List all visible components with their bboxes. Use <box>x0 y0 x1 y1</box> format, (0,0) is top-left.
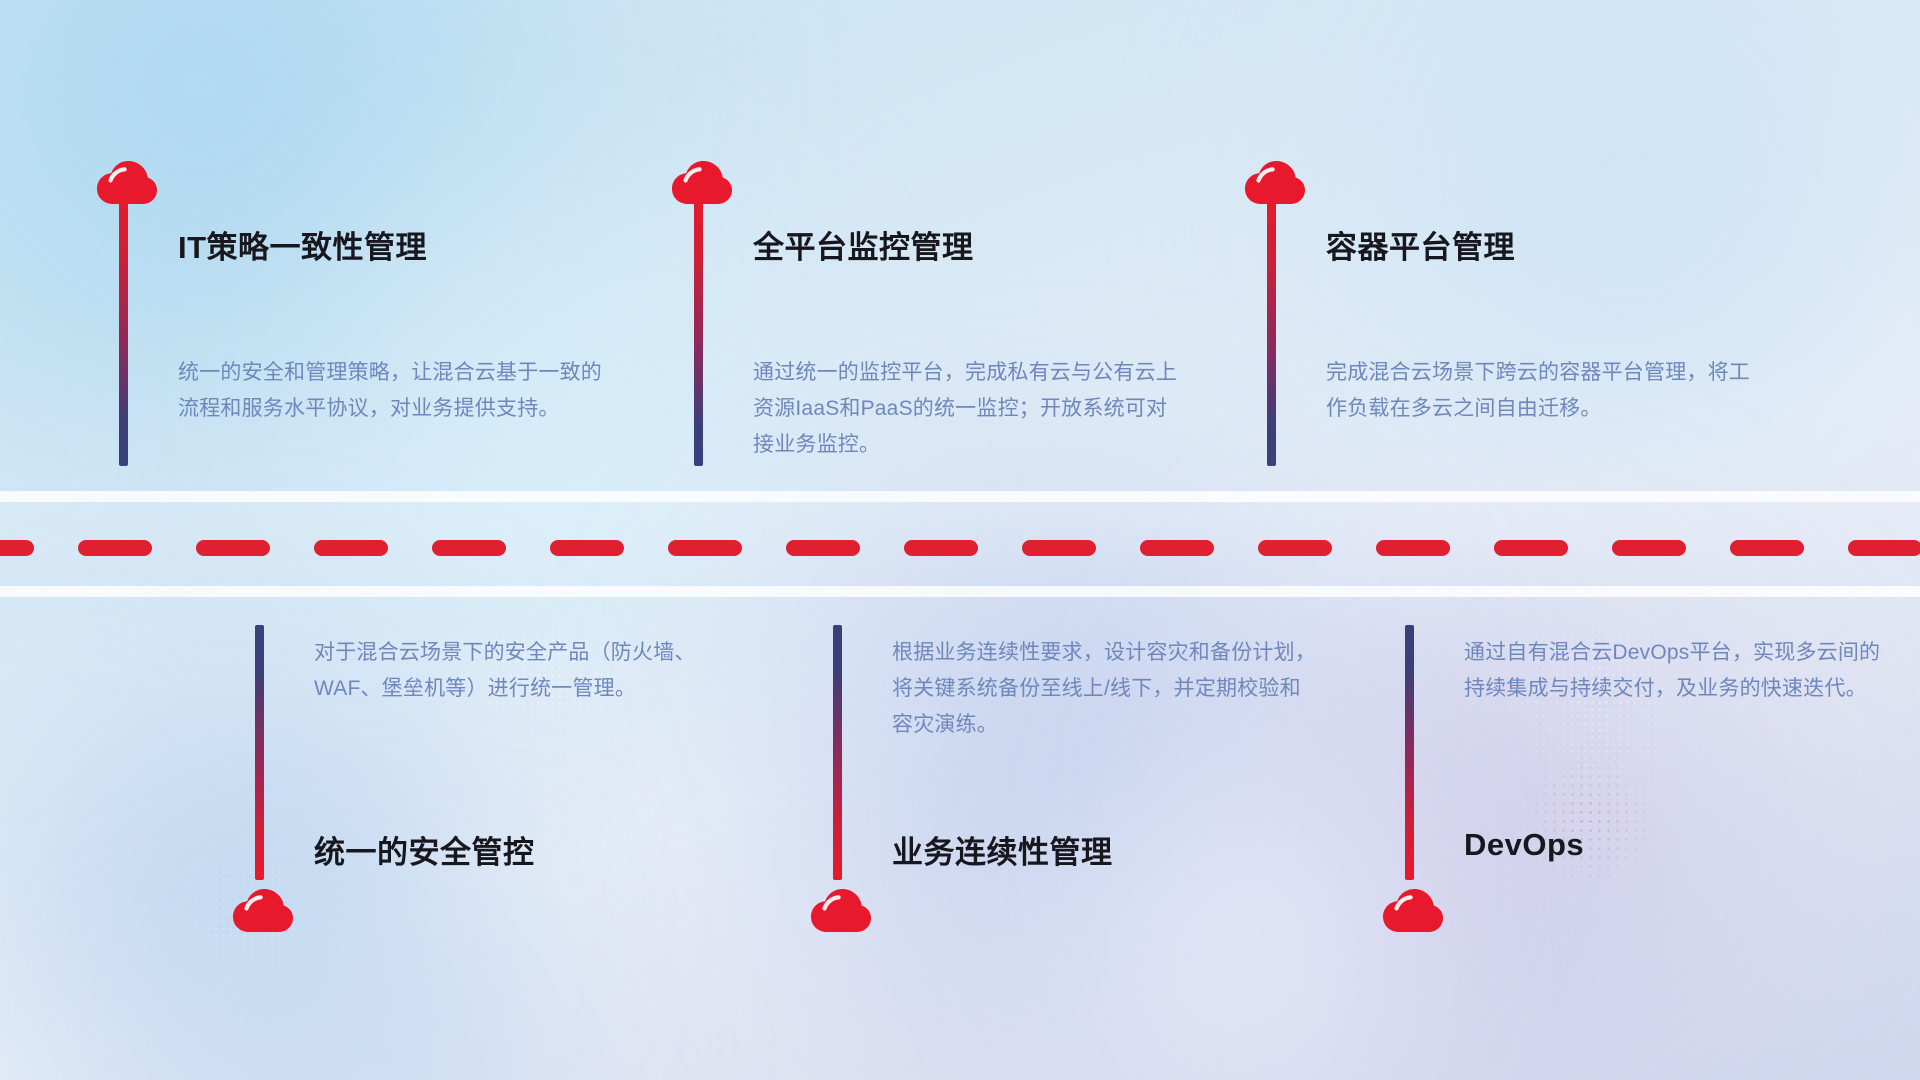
infographic-canvas: IT策略一致性管理 统一的安全和管理策略，让混合云基于一致的流程和服务水平协议，… <box>0 0 1920 1080</box>
node-title-platform-monitoring: 全平台监控管理 <box>753 222 974 267</box>
node-title-business-continuity: 业务连续性管理 <box>892 827 1113 872</box>
cloud-pin-icon <box>810 888 872 934</box>
road-edge-stripe-top <box>0 491 1920 502</box>
node-title-devops: DevOps <box>1464 827 1584 863</box>
node-title-it-policy: IT策略一致性管理 <box>178 222 427 267</box>
node-body-business-continuity: 根据业务连续性要求，设计容灾和备份计划，将关键系统备份至线上/线下，并定期校验和… <box>892 635 1322 743</box>
road-edge-stripe-bottom <box>0 586 1920 597</box>
cloud-pin-icon <box>1382 888 1444 934</box>
node-body-it-policy: 统一的安全和管理策略，让混合云基于一致的流程和服务水平协议，对业务提供支持。 <box>178 355 608 427</box>
connector-stem <box>119 196 128 466</box>
node-body-platform-monitoring: 通过统一的监控平台，完成私有云与公有云上资源IaaS和PaaS的统一监控；开放系… <box>753 355 1183 463</box>
connector-stem <box>833 625 842 880</box>
background-blob <box>1120 520 1880 1080</box>
node-body-devops: 通过自有混合云DevOps平台，实现多云间的持续集成与持续交付，及业务的快速迭代… <box>1464 635 1894 707</box>
node-body-unified-security: 对于混合云场景下的安全产品（防火墙、WAF、堡垒机等）进行统一管理。 <box>314 635 744 707</box>
cloud-pin-icon <box>232 888 294 934</box>
node-title-unified-security: 统一的安全管控 <box>314 827 535 872</box>
connector-stem <box>1405 625 1414 880</box>
connector-stem <box>255 625 264 880</box>
node-title-container-platform: 容器平台管理 <box>1326 222 1515 267</box>
connector-stem <box>694 196 703 466</box>
road-center-dashes <box>0 540 1920 556</box>
connector-stem <box>1267 196 1276 466</box>
background-blob <box>1220 0 1920 540</box>
node-body-container-platform: 完成混合云场景下跨云的容器平台管理，将工作负载在多云之间自由迁移。 <box>1326 355 1756 427</box>
dot-texture-red <box>1505 745 1675 895</box>
background-blob <box>0 0 740 540</box>
background-blob <box>40 880 680 1080</box>
